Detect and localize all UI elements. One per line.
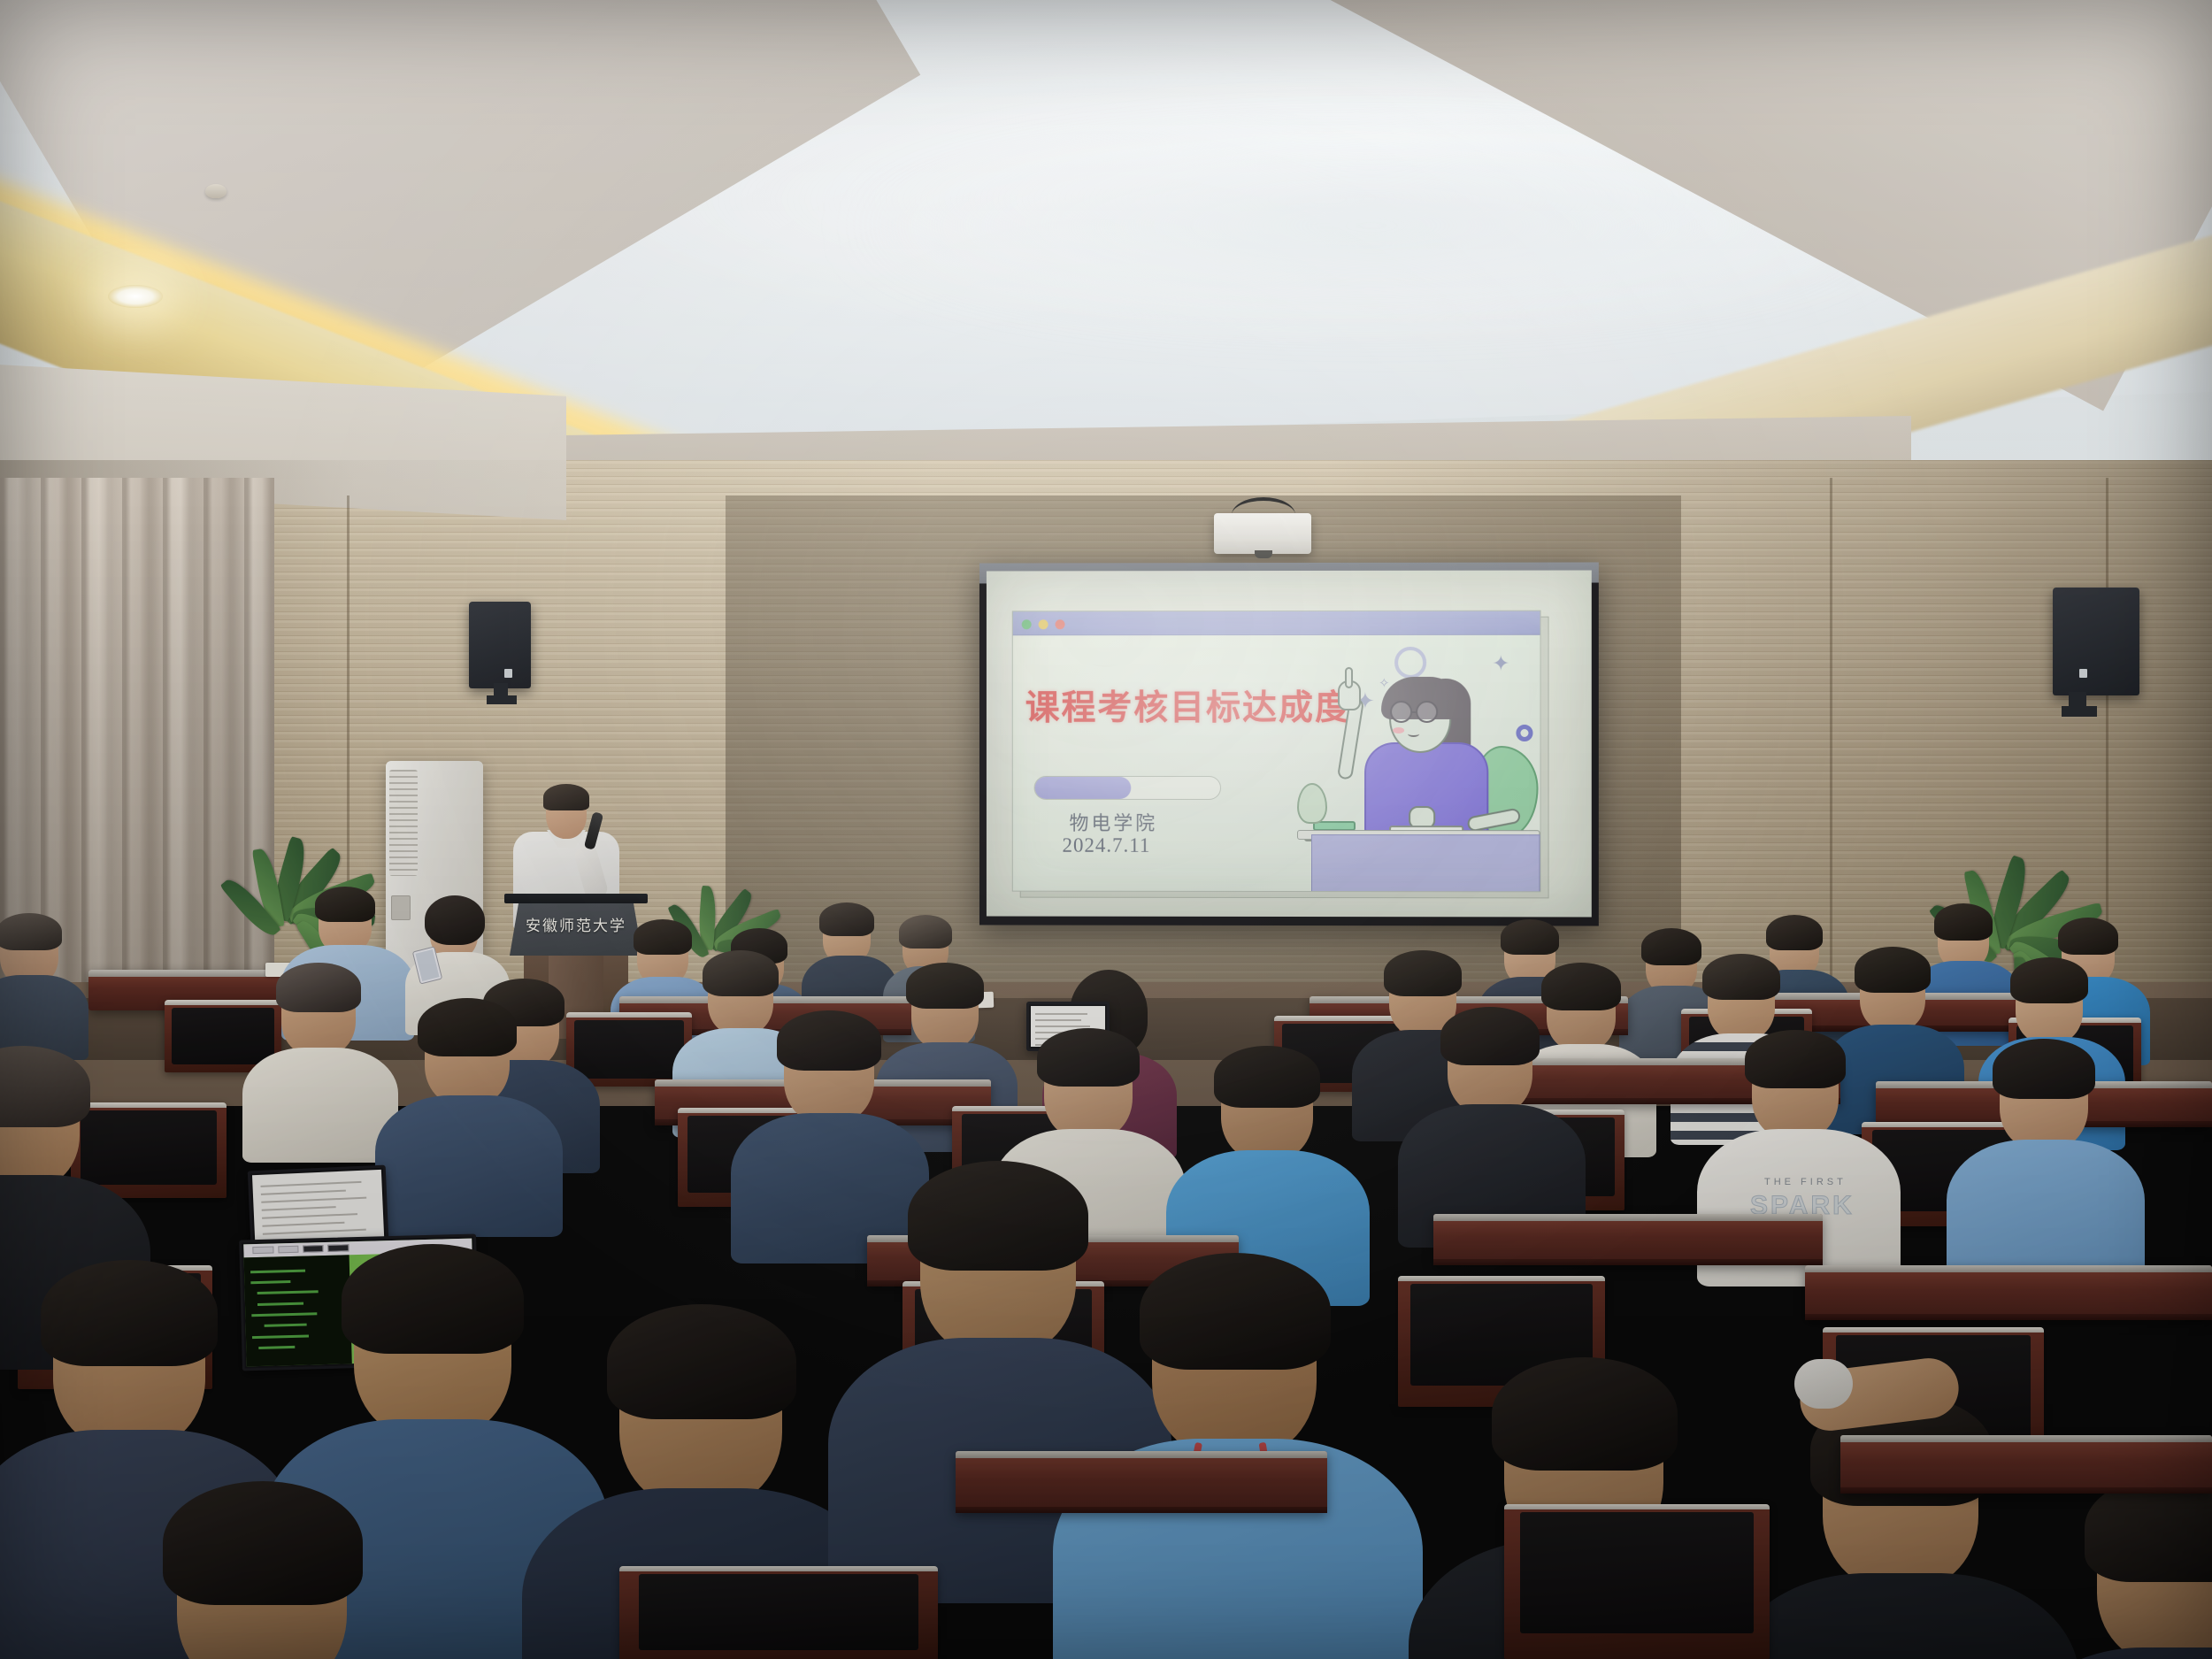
sparkle-icon: ✦	[1492, 654, 1509, 675]
slide-progress-bar	[1034, 776, 1221, 800]
slide-illustration: ✦ ✧ ✦	[1292, 638, 1540, 893]
illustration-cheek-blush	[1393, 727, 1404, 733]
illustration-glasses-bridge	[1412, 710, 1417, 713]
illustration-desk-front	[1311, 834, 1540, 892]
window-close-dot-icon	[1056, 619, 1065, 629]
smoke-detector-icon	[205, 184, 227, 198]
slide-window-titlebar	[1013, 611, 1540, 636]
downlight-icon	[108, 285, 163, 308]
slide-date: 2024.7.11	[1063, 834, 1151, 857]
speaker-bracket-right	[2062, 706, 2097, 717]
ceiling-projector	[1214, 513, 1311, 554]
auditorium-chair	[619, 1566, 938, 1659]
illustration-glasses-left-icon	[1390, 701, 1412, 723]
slide-progress-fill	[1035, 777, 1132, 799]
projection-screen: 课程考核目标达成度 物电学院 2024.7.11 ✦ ✧ ✦	[979, 562, 1599, 926]
illustration-pointing-finger	[1345, 667, 1353, 688]
slide-title: 课程考核目标达成度	[1025, 680, 1317, 730]
decor-ring-icon	[1394, 647, 1426, 679]
audience-desk	[956, 1451, 1327, 1513]
audience-desk	[1433, 1214, 1823, 1265]
audience-desk	[1840, 1435, 2212, 1494]
podium-institution-name: 安徽师范大学	[510, 913, 642, 935]
wall-speaker-right	[2053, 588, 2139, 695]
shirt-text-line1: THE FIRST	[1764, 1177, 1847, 1187]
wristband	[1794, 1359, 1853, 1409]
window-minimize-dot-icon	[1022, 619, 1032, 629]
laptop-code-editor	[244, 1255, 352, 1366]
slide-department: 物电学院	[1069, 808, 1157, 836]
podium-top-rail	[504, 894, 648, 903]
window-maximize-dot-icon	[1039, 619, 1048, 629]
illustration-mouth	[1408, 731, 1419, 737]
presenter-hair	[543, 784, 589, 810]
audience-desk	[1805, 1265, 2212, 1320]
speaker-led-icon	[2079, 669, 2087, 678]
screen-surface: 课程考核目标达成度 物电学院 2024.7.11 ✦ ✧ ✦	[987, 571, 1592, 918]
auditorium-chair	[1504, 1504, 1770, 1659]
illustration-glasses-right-icon	[1416, 701, 1438, 723]
decor-plant-left-icon	[1297, 783, 1327, 824]
speaker-led-icon	[504, 669, 512, 678]
decor-ring-small-icon	[1516, 725, 1532, 741]
speaker-bracket-left	[487, 695, 517, 704]
slide-window: 课程考核目标达成度 物电学院 2024.7.11 ✦ ✧ ✦	[1012, 611, 1541, 893]
lecture-hall-photo: 课程考核目标达成度 物电学院 2024.7.11 ✦ ✧ ✦	[0, 0, 2212, 1659]
smartphone-screen	[415, 949, 439, 981]
wall-speaker-left	[469, 602, 531, 688]
projector-lens-icon	[1255, 550, 1272, 558]
